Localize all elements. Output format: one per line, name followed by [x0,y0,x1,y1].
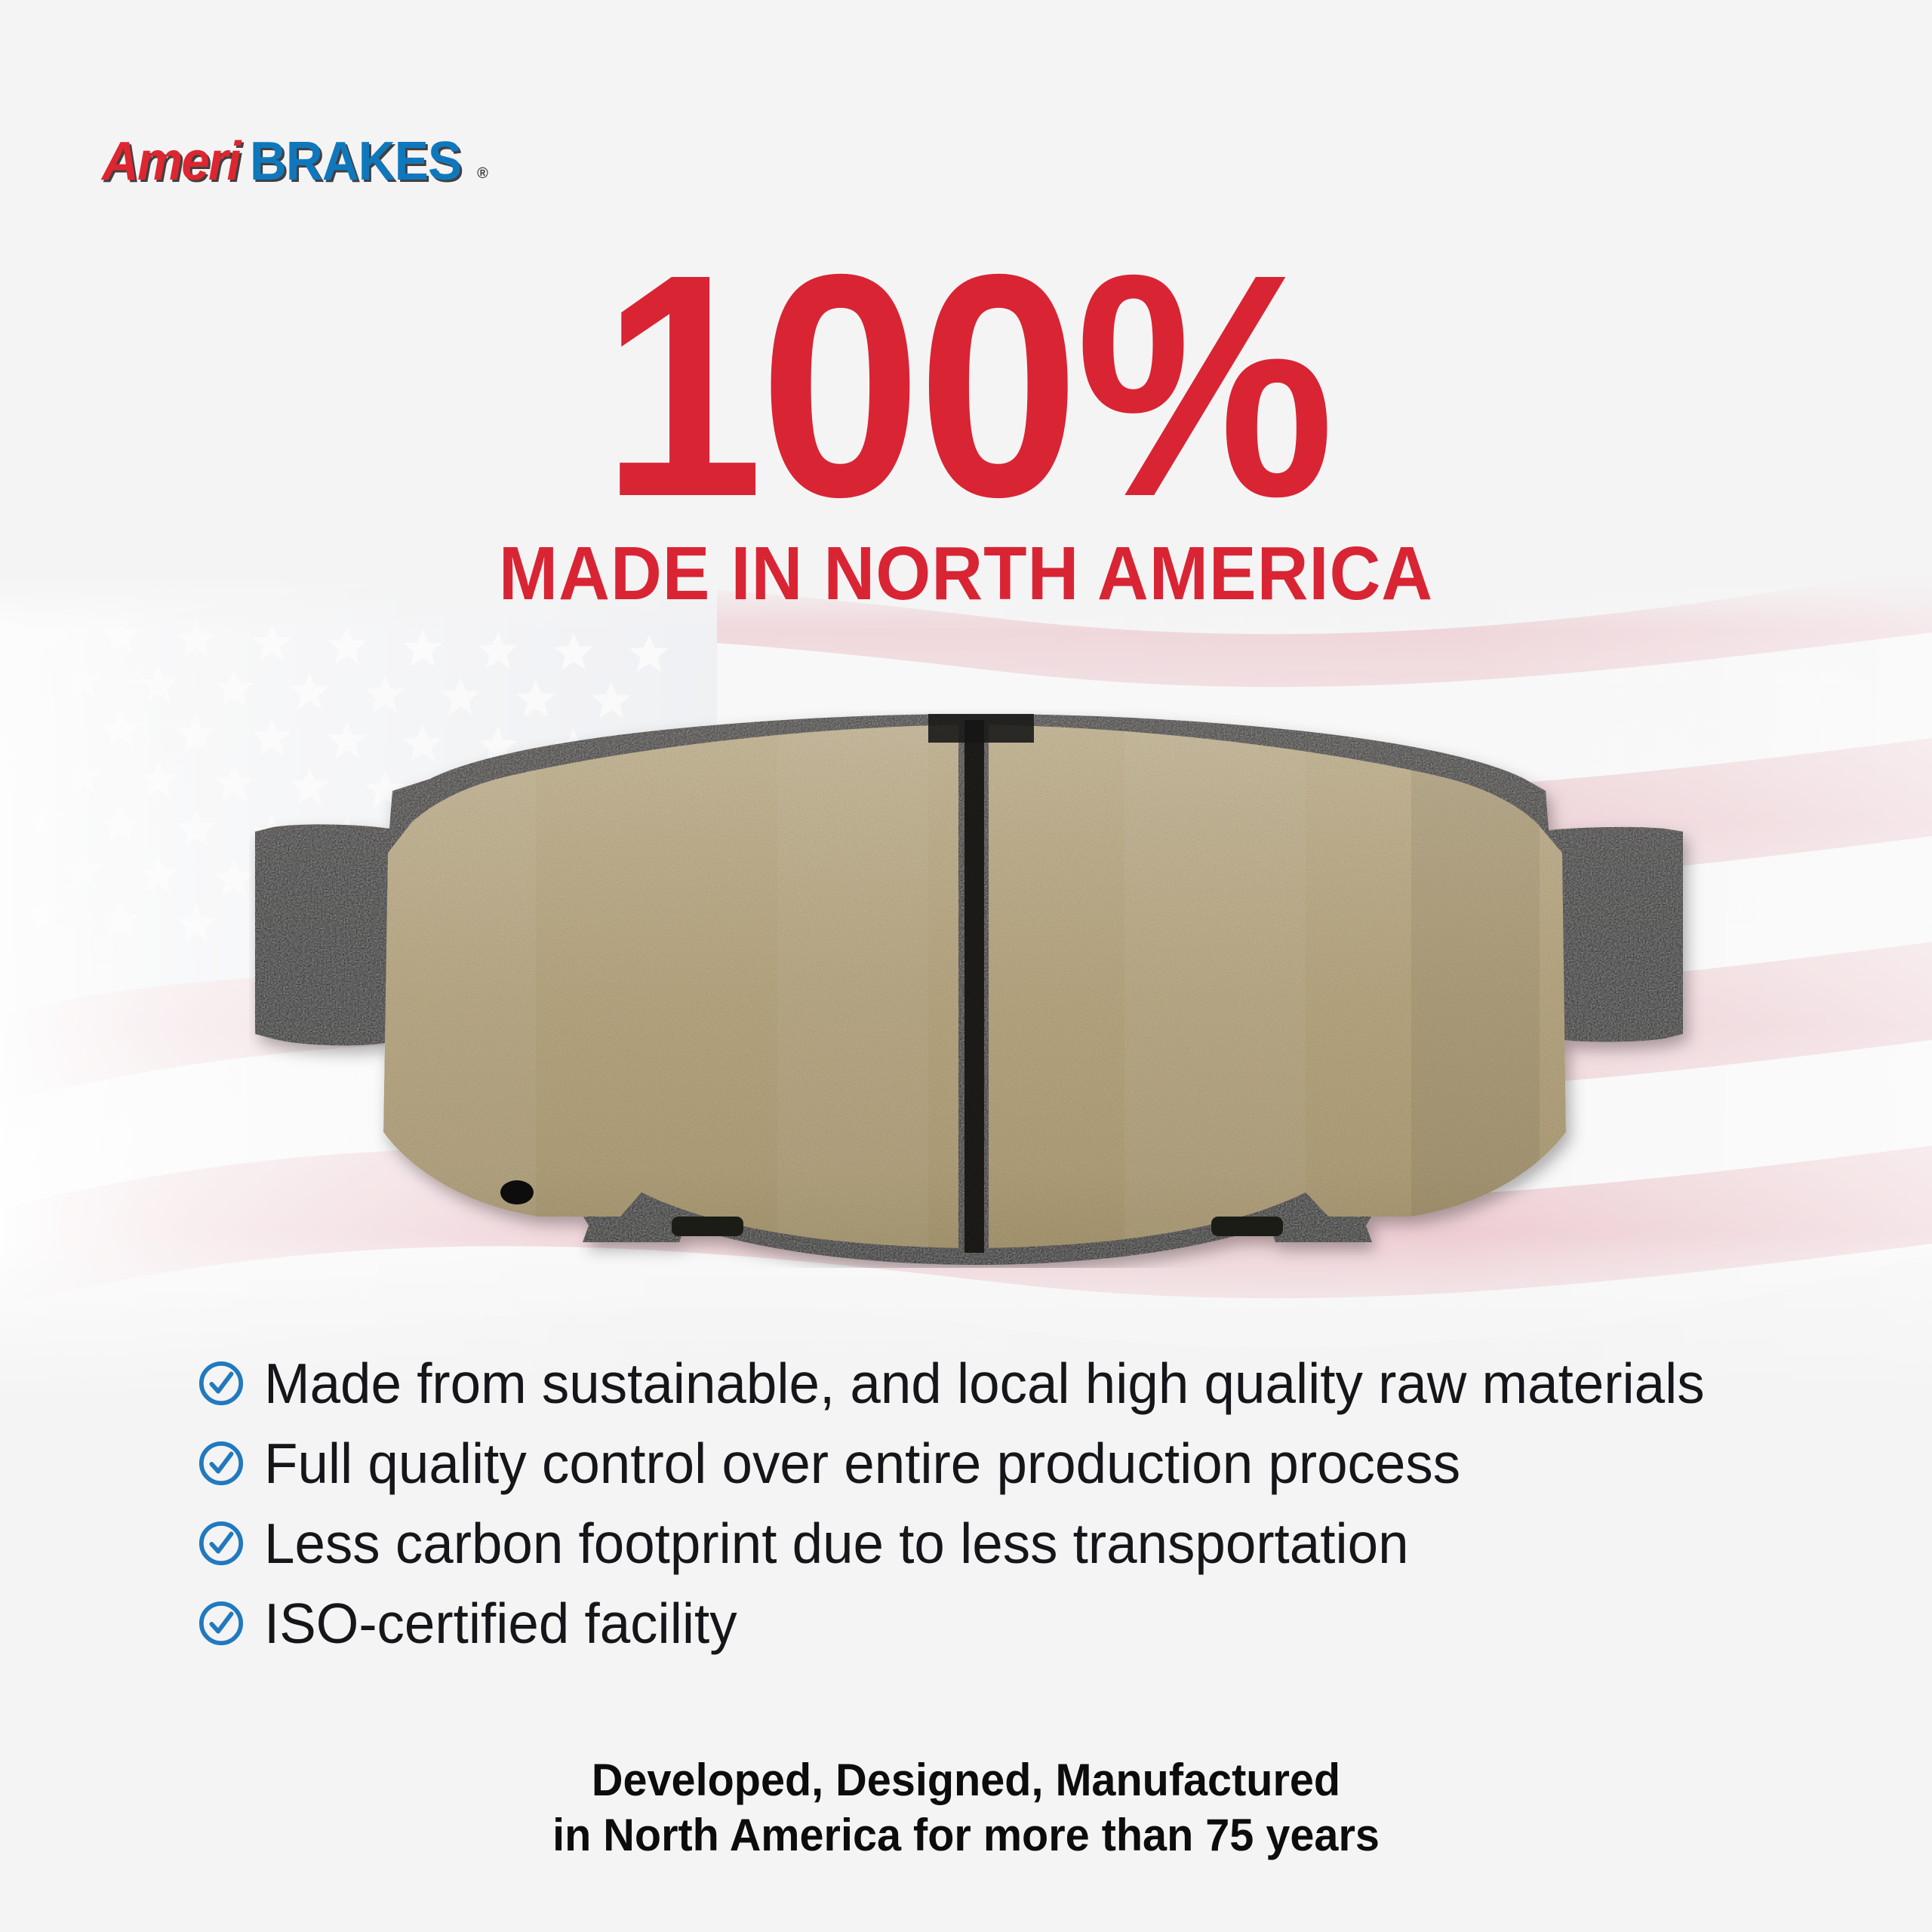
ceramic-brake-pad-icon [249,709,1706,1268]
pad-top-notch [928,714,1034,743]
check-circle-icon [198,1600,245,1647]
check-circle-icon [198,1360,245,1407]
list-item: ISO-certified facility [198,1583,1783,1663]
list-item: Less carbon footprint due to less transp… [198,1503,1783,1583]
hero-subtitle: MADE IN NORTH AMERICA [58,536,1874,611]
pad-clip-right [1211,1217,1283,1236]
footer-line-2: in North America for more than 75 years [38,1807,1894,1863]
list-item: Full quality control over entire product… [198,1423,1783,1503]
hero-percent: 100% [77,257,1854,516]
pad-clip-left [672,1217,743,1236]
logo-text-brakes: BRAKES [250,134,461,189]
feature-label: Less carbon footprint due to less transp… [264,1515,1409,1572]
list-item: Made from sustainable, and local high qu… [198,1343,1783,1423]
registered-trademark-icon: ® [477,165,488,183]
pad-locating-hole [500,1180,534,1204]
check-circle-icon [198,1520,245,1567]
check-circle-icon [198,1440,245,1487]
product-feature-banner: Ameri BRAKES ® 100% MADE IN NORTH AMERIC… [0,0,1932,1932]
check-circle-glyph [198,1360,245,1407]
feature-list: Made from sustainable, and local high qu… [198,1343,1783,1663]
brand-logo[interactable]: Ameri BRAKES ® [102,134,488,195]
footer-block: Developed, Designed, Manufactured in Nor… [0,1752,1932,1863]
pad-center-slot [964,720,984,1253]
feature-label: Full quality control over entire product… [264,1435,1460,1492]
check-circle-glyph [198,1600,245,1647]
check-circle-glyph [198,1440,245,1487]
hero-headline-block: 100% MADE IN NORTH AMERICA [0,257,1932,611]
check-circle-glyph [198,1520,245,1567]
product-image [249,709,1706,1268]
logo-text-ameri: Ameri [102,134,239,189]
footer-line-1: Developed, Designed, Manufactured [38,1752,1894,1807]
feature-label: Made from sustainable, and local high qu… [264,1355,1705,1412]
feature-label: ISO-certified facility [264,1595,737,1652]
